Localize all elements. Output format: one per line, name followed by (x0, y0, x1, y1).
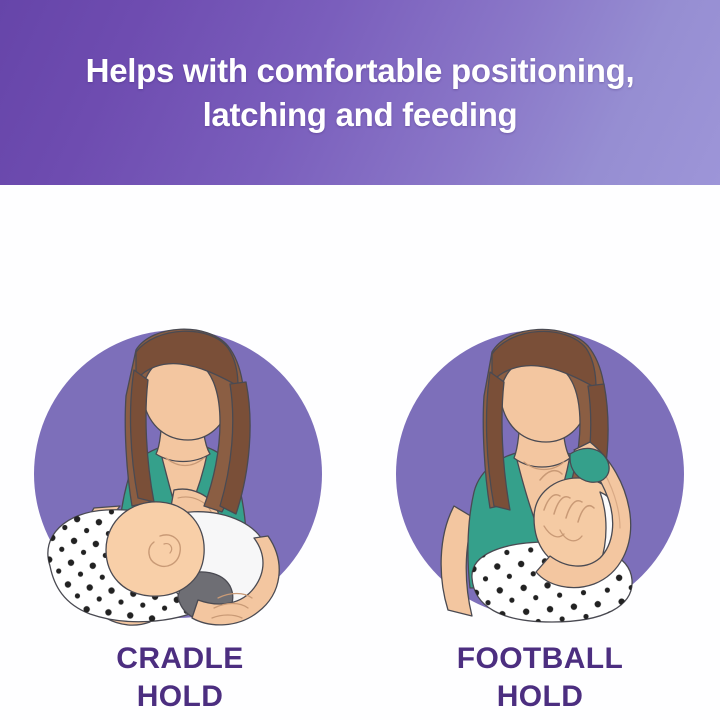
football-hold-caption-line-1: FOOTBALL (457, 642, 624, 675)
football-hold-illustration (394, 330, 686, 622)
football-hold-figure (394, 330, 686, 622)
football-hold-caption-line-2: HOLD (360, 678, 720, 716)
headline-line-2: latching and feeding (40, 93, 680, 137)
headline-banner-inner: Helps with comfortable positioning, latc… (40, 49, 680, 136)
cradle-hold-figure (32, 330, 324, 622)
hold-card-cradle[interactable]: CRADLE HOLD (0, 185, 360, 720)
hold-illustrations-gallery: CRADLE HOLD (0, 185, 720, 720)
cradle-hold-caption-line-1: CRADLE (116, 642, 243, 675)
headline-line-1: Helps with comfortable positioning, (86, 52, 635, 89)
cradle-hold-illustration (32, 330, 324, 622)
cradle-hold-caption: CRADLE HOLD (0, 640, 360, 717)
football-hold-caption: FOOTBALL HOLD (360, 640, 720, 717)
headline-banner: Helps with comfortable positioning, latc… (0, 0, 720, 185)
hold-card-football[interactable]: FOOTBALL HOLD (360, 185, 720, 720)
headline-text: Helps with comfortable positioning, latc… (40, 49, 680, 136)
cradle-hold-caption-line-2: HOLD (0, 678, 360, 716)
